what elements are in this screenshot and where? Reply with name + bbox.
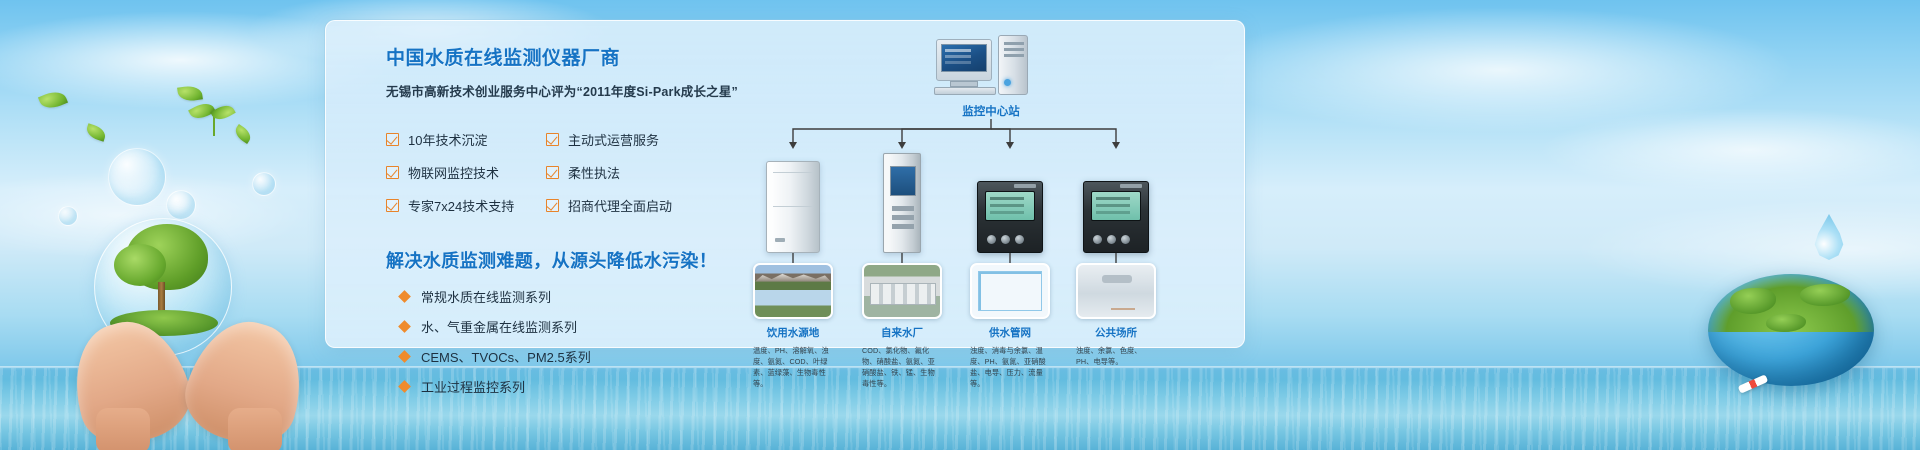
leaf-decoration bbox=[232, 124, 254, 144]
product-series-list: 常规水质在线监测系列 水、气重金属在线监测系列 CEMS、TVOCs、PM2.5… bbox=[386, 287, 726, 396]
scene-card[interactable]: 供水管网 浊度、消毒与余氯、温度、PH、氨氮、亚硝酸盐、电导、压力、流量等。 bbox=[970, 263, 1050, 390]
list-item-label: 工业过程监控系列 bbox=[421, 377, 525, 396]
scene-title: 公共场所 bbox=[1076, 325, 1156, 340]
feature-item[interactable]: 柔性执法 bbox=[546, 163, 706, 182]
scene-title: 自来水厂 bbox=[862, 325, 942, 340]
water-cabinet-icon[interactable] bbox=[766, 161, 820, 253]
device-row bbox=[756, 143, 1226, 253]
feature-item[interactable]: 物联网监控技术 bbox=[386, 163, 546, 182]
monitoring-system-diagram: 监控中心站 bbox=[756, 35, 1226, 345]
list-item[interactable]: 常规水质在线监测系列 bbox=[386, 287, 726, 306]
section-title-solutions: 解决水质监测难题，从源头降低水污染！ bbox=[386, 247, 726, 273]
bubble-decoration bbox=[252, 172, 276, 196]
scene-title: 供水管网 bbox=[970, 325, 1050, 340]
leaf-decoration bbox=[38, 88, 68, 113]
sprout-decoration bbox=[196, 104, 232, 136]
list-item-label: 水、气重金属在线监测系列 bbox=[421, 317, 577, 336]
feature-label: 招商代理全面启动 bbox=[568, 196, 672, 215]
bubble-decoration bbox=[108, 148, 166, 206]
feature-label: 10年技术沉淀 bbox=[408, 130, 487, 149]
server-computer-icon bbox=[936, 35, 1046, 97]
controller-panel-icon[interactable] bbox=[977, 181, 1043, 253]
scene-card[interactable]: 自来水厂 COD、氯化物、氟化物、硝酸盐、氨氮、亚硝酸盐、铁、锰、生物毒性等。 bbox=[862, 263, 942, 390]
list-item-label: 常规水质在线监测系列 bbox=[421, 287, 551, 306]
earth-globe-icon bbox=[1708, 266, 1874, 392]
list-item-label: CEMS、TVOCs、PM2.5系列 bbox=[421, 347, 591, 366]
feature-item[interactable]: 主动式运营服务 bbox=[546, 130, 706, 149]
feature-item[interactable]: 10年技术沉淀 bbox=[386, 130, 546, 149]
panel-left-column: 中国水质在线监测仪器厂商 无锡市高新技术创业服务中心评为“2011年度Si-Pa… bbox=[386, 43, 726, 396]
feature-label: 专家7x24技术支持 bbox=[408, 196, 514, 215]
feature-label: 柔性执法 bbox=[568, 163, 620, 182]
leaf-decoration bbox=[177, 84, 203, 102]
pipe-network-thumb bbox=[970, 263, 1050, 319]
analyzer-rack-icon[interactable] bbox=[883, 153, 921, 253]
scene-description: COD、氯化物、氟化物、硝酸盐、氨氮、亚硝酸盐、铁、锰、生物毒性等。 bbox=[862, 345, 942, 390]
checkbox-checked-icon bbox=[386, 166, 399, 179]
diamond-bullet-icon bbox=[398, 320, 411, 333]
leaf-decoration bbox=[84, 123, 107, 142]
list-item[interactable]: 工业过程监控系列 bbox=[386, 377, 726, 396]
river-landscape-thumb bbox=[753, 263, 833, 319]
feature-label: 物联网监控技术 bbox=[408, 163, 499, 182]
checkbox-checked-icon bbox=[546, 166, 559, 179]
diamond-bullet-icon bbox=[398, 380, 411, 393]
diamond-bullet-icon bbox=[398, 290, 411, 303]
water-plant-thumb bbox=[862, 263, 942, 319]
scene-description: 浊度、余氯、色度、PH、电导等。 bbox=[1076, 345, 1156, 367]
main-panel: 中国水质在线监测仪器厂商 无锡市高新技术创业服务中心评为“2011年度Si-Pa… bbox=[325, 20, 1245, 348]
scene-card[interactable]: 饮用水源地 温度、PH、溶解氧、浊度、氨氮、COD、叶绿素、蓝绿藻、生物毒性等。 bbox=[753, 263, 833, 390]
scene-description: 温度、PH、溶解氧、浊度、氨氮、COD、叶绿素、蓝绿藻、生物毒性等。 bbox=[753, 345, 833, 390]
feature-item[interactable]: 专家7x24技术支持 bbox=[386, 196, 546, 215]
center-station-label: 监控中心站 bbox=[906, 103, 1076, 119]
faucet-hands-thumb bbox=[1076, 263, 1156, 319]
scene-title: 饮用水源地 bbox=[753, 325, 833, 340]
diamond-bullet-icon bbox=[398, 350, 411, 363]
feature-label: 主动式运营服务 bbox=[568, 130, 659, 149]
page-title: 中国水质在线监测仪器厂商 bbox=[386, 43, 726, 70]
list-item[interactable]: 水、气重金属在线监测系列 bbox=[386, 317, 726, 336]
scene-description: 浊度、消毒与余氯、温度、PH、氨氮、亚硝酸盐、电导、压力、流量等。 bbox=[970, 345, 1050, 390]
feature-checklist: 10年技术沉淀 主动式运营服务 物联网监控技术 柔性执法 专家7x24技术支持 … bbox=[386, 130, 726, 215]
checkbox-checked-icon bbox=[546, 199, 559, 212]
checkbox-checked-icon bbox=[386, 199, 399, 212]
controller-panel-icon[interactable] bbox=[1083, 181, 1149, 253]
page-subtitle: 无锡市高新技术创业服务中心评为“2011年度Si-Park成长之星” bbox=[386, 81, 726, 100]
scene-card[interactable]: 公共场所 浊度、余氯、色度、PH、电导等。 bbox=[1076, 263, 1156, 367]
checkbox-checked-icon bbox=[546, 133, 559, 146]
list-item[interactable]: CEMS、TVOCs、PM2.5系列 bbox=[386, 347, 726, 366]
hands-holding-tree-icon bbox=[70, 210, 310, 450]
checkbox-checked-icon bbox=[386, 133, 399, 146]
water-drop-icon bbox=[1812, 214, 1846, 260]
feature-item[interactable]: 招商代理全面启动 bbox=[546, 196, 706, 215]
